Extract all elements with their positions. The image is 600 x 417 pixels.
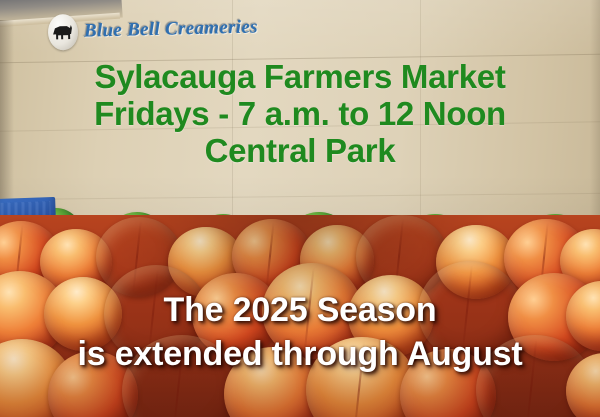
subhead-line-1: The 2025 Season: [0, 288, 600, 332]
brand-name-text: Blue Bell Creameries: [84, 16, 258, 42]
headline-line-3: Central Park: [0, 132, 600, 169]
cow-in-oval-logo: [48, 14, 79, 51]
headline-text-block: Sylacauga Farmers Market Fridays - 7 a.m…: [0, 58, 600, 169]
headline-line-1: Sylacauga Farmers Market: [0, 58, 600, 95]
subhead-text-block: The 2025 Season is extended through Augu…: [0, 288, 600, 376]
subhead-line-2: is extended through August: [0, 332, 600, 376]
blue-bell-creameries-sign: Blue Bell Creameries: [48, 9, 259, 50]
farmers-market-poster: Blue Bell Creameries: [0, 0, 600, 417]
headline-line-2: Fridays - 7 a.m. to 12 Noon: [0, 95, 600, 132]
